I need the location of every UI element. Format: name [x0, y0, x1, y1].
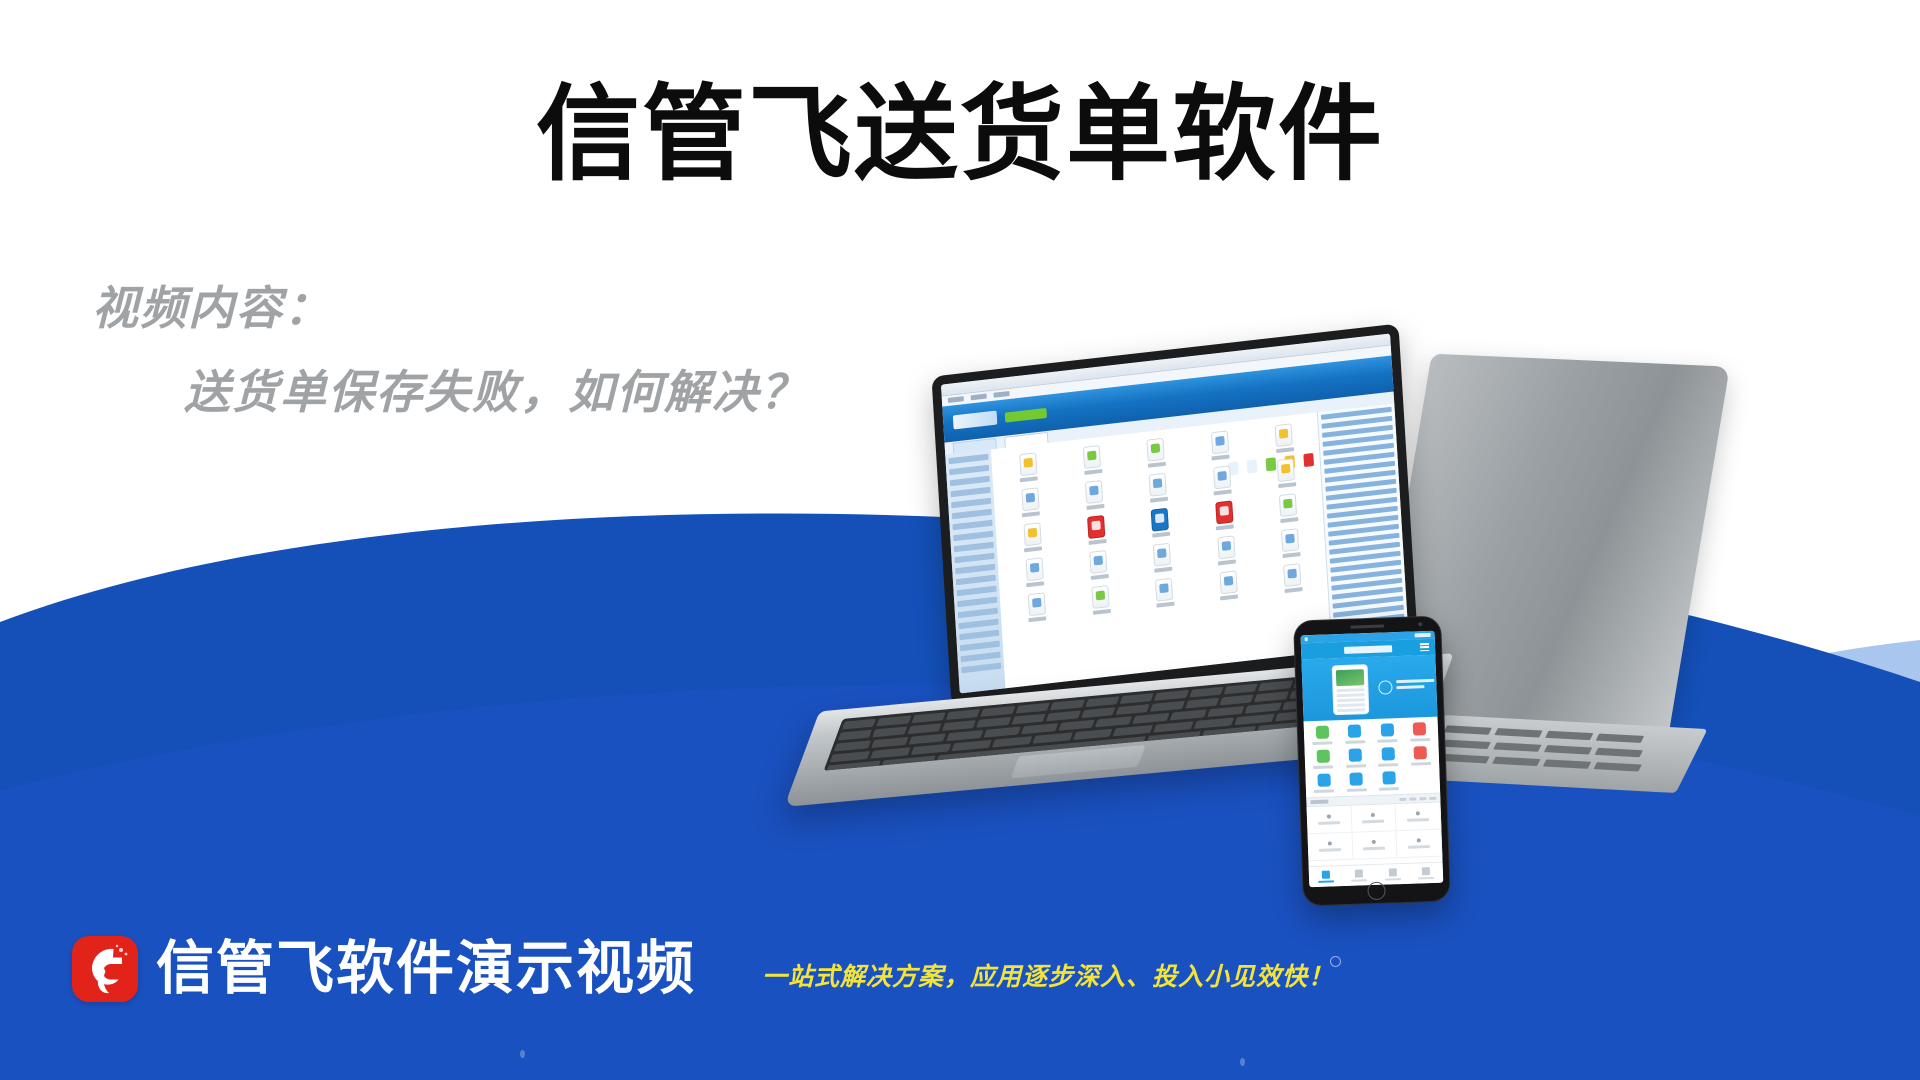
mobile-module-icon[interactable]	[1340, 748, 1371, 768]
app-menu-item[interactable]	[948, 396, 964, 403]
mobile-module-icon[interactable]	[1341, 772, 1372, 792]
mobile-module-icon[interactable]	[1307, 725, 1338, 745]
sidebar-item[interactable]	[959, 619, 999, 630]
sidebar-item[interactable]	[951, 498, 991, 509]
mobile-app-title	[1344, 645, 1392, 654]
video-content-block: 视频内容： 送货单保存失败，如何解决？	[92, 285, 808, 415]
app-menu-item[interactable]	[971, 394, 987, 401]
module-icon[interactable]	[1189, 428, 1251, 463]
stat-cell[interactable]	[1397, 830, 1443, 859]
module-icon[interactable]	[1258, 491, 1320, 526]
decorative-dot	[1330, 956, 1341, 967]
module-icon[interactable]	[1130, 505, 1192, 540]
stat-cell[interactable]	[1396, 803, 1442, 832]
module-icon[interactable]	[1063, 478, 1125, 513]
app-main-panel	[991, 412, 1332, 688]
sidebar-item[interactable]	[961, 663, 1001, 674]
sidebar-item[interactable]	[959, 630, 999, 641]
mobile-app-hero-banner	[1301, 655, 1437, 722]
stat-cell[interactable]	[1352, 831, 1398, 860]
mobile-module-icon[interactable]	[1308, 749, 1339, 769]
module-icon[interactable]	[997, 450, 1059, 485]
toolbar-icon[interactable]	[1247, 459, 1258, 473]
sidebar-item[interactable]	[949, 465, 989, 476]
brand-lockup: 信管飞软件演示视频	[72, 936, 696, 1002]
sidebar-item[interactable]	[950, 476, 990, 487]
stat-cell[interactable]	[1307, 806, 1353, 835]
module-icon[interactable]	[1068, 548, 1130, 583]
sidebar-item[interactable]	[952, 520, 992, 531]
phone-front-camera	[1418, 622, 1422, 626]
phone-screen	[1301, 631, 1444, 888]
brand-name: 信管飞软件演示视频	[156, 940, 696, 998]
video-content-topic: 送货单保存失败，如何解决？	[184, 369, 808, 415]
app-logo-icon	[953, 411, 998, 430]
sidebar-item[interactable]	[961, 652, 1001, 663]
mobile-module-icon[interactable]	[1308, 773, 1339, 793]
module-icon[interactable]	[1127, 470, 1189, 505]
sidebar-item[interactable]	[953, 531, 993, 542]
mobile-module-icon[interactable]	[1373, 771, 1404, 791]
sidebar-item[interactable]	[956, 575, 996, 586]
sidebar-item[interactable]	[952, 509, 992, 520]
footer-tagline: 一站式解决方案，应用逐步深入、投入小见效快！	[762, 965, 1334, 990]
module-icon[interactable]	[1002, 520, 1064, 555]
module-icon[interactable]	[1066, 513, 1128, 548]
slide-canvas: 信管飞送货单软件 视频内容： 送货单保存失败，如何解决？	[0, 0, 1920, 1080]
device-photo-group	[880, 370, 1920, 950]
mobile-module-icon[interactable]	[1373, 747, 1404, 767]
sidebar-item[interactable]	[954, 553, 994, 564]
mobile-module-icon[interactable]	[1404, 722, 1435, 742]
mobile-module-grid	[1304, 717, 1441, 798]
xinguanfei-bird-logo-icon	[72, 936, 138, 1002]
decorative-dot	[520, 1050, 525, 1058]
sidebar-item[interactable]	[955, 564, 995, 575]
hero-sync-icon	[1378, 680, 1392, 694]
hero-phone-illustration	[1332, 664, 1370, 715]
module-icon[interactable]	[1260, 526, 1322, 561]
sidebar-item[interactable]	[957, 597, 997, 608]
decorative-dot	[1240, 1058, 1245, 1066]
page-title: 信管飞送货单软件	[0, 78, 1920, 192]
app-right-list-panel	[1317, 403, 1409, 651]
module-icon[interactable]	[1006, 590, 1068, 625]
app-banner-badge	[1005, 408, 1047, 423]
sidebar-item[interactable]	[950, 487, 990, 498]
module-icon[interactable]	[1004, 555, 1066, 590]
module-icon[interactable]	[1198, 568, 1260, 603]
sidebar-item[interactable]	[956, 586, 996, 597]
laptop-rear-keyboard-deck	[1412, 715, 1707, 793]
mobile-module-icon[interactable]	[1405, 746, 1436, 766]
smartphone-device	[1293, 616, 1451, 907]
sidebar-item[interactable]	[960, 641, 1000, 652]
module-icon[interactable]	[1134, 575, 1196, 610]
tab-profile[interactable]	[1409, 866, 1443, 880]
sidebar-item[interactable]	[958, 608, 998, 619]
hero-caption	[1396, 679, 1434, 692]
mobile-stats-grid	[1307, 803, 1443, 862]
stat-cell[interactable]	[1308, 833, 1354, 862]
sidebar-item[interactable]	[954, 542, 994, 553]
mobile-module-icon[interactable]	[1372, 723, 1403, 743]
phone-earpiece	[1350, 624, 1384, 628]
module-icon[interactable]	[1196, 533, 1258, 568]
toolbar-icon[interactable]	[1303, 453, 1314, 467]
module-icon[interactable]	[1253, 421, 1315, 456]
sidebar-item[interactable]	[948, 454, 988, 465]
stat-cell[interactable]	[1351, 804, 1397, 833]
footer-bar: 信管飞软件演示视频 一站式解决方案，应用逐步深入、投入小见效快！	[0, 880, 1920, 1080]
app-module-icon-grid	[997, 421, 1323, 625]
module-icon[interactable]	[1125, 435, 1187, 470]
video-content-label: 视频内容：	[92, 285, 808, 331]
module-icon[interactable]	[1262, 561, 1324, 596]
module-icon[interactable]	[1061, 443, 1123, 478]
mobile-module-icon[interactable]	[1339, 724, 1370, 744]
hamburger-menu-icon[interactable]	[1420, 643, 1429, 651]
toolbar-icon[interactable]	[1266, 457, 1277, 471]
app-menu-item[interactable]	[993, 391, 1009, 398]
module-icon[interactable]	[999, 485, 1061, 520]
module-icon[interactable]	[1132, 540, 1194, 575]
module-icon[interactable]	[1070, 583, 1132, 618]
module-icon[interactable]	[1194, 498, 1256, 533]
